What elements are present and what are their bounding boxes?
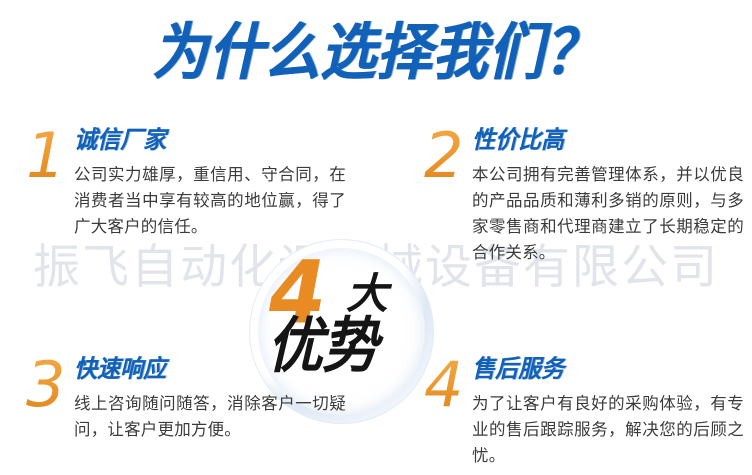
feature-number-4: 4: [424, 354, 472, 416]
feature-text-4: 为了让客户有良好的采购体验，有专业的售后跟踪服务，解决您的后顾之忧。: [472, 391, 744, 469]
feature-heading-3: 快速响应: [74, 357, 366, 383]
feature-number-2: 2: [424, 125, 472, 187]
feature-number-1: 1: [26, 125, 74, 187]
feature-block-2: 2 性价比高 本公司拥有完善管理体系，并以优良的产品品质和薄利多销的原则，与多家…: [424, 128, 746, 266]
promo-banner: 振飞自动化调机械设备有限公司 为什么选择我们？ 4 大 优势 1 诚信厂家 公司…: [0, 0, 752, 475]
feature-body-4: 售后服务 为了让客户有良好的采购体验，有专业的售后跟踪服务，解决您的后顾之忧。: [472, 357, 746, 469]
feature-heading-4: 售后服务: [472, 357, 746, 383]
feature-body-1: 诚信厂家 公司实力雄厚，重信用、守合同，在消费者当中享有较高的地位赢，得了广大客…: [74, 128, 366, 240]
feature-block-3: 3 快速响应 线上咨询随问随答，消除客户一切疑问，让客户更加方便。: [26, 357, 366, 443]
page-title: 为什么选择我们？: [0, 22, 752, 77]
feature-heading-2: 性价比高: [472, 128, 746, 154]
badge-number: 4: [269, 251, 326, 337]
feature-number-3: 3: [26, 354, 74, 416]
feature-text-2: 本公司拥有完善管理体系，并以优良的产品品质和薄利多销的原则，与多家零售商和代理商…: [472, 162, 744, 266]
feature-block-1: 1 诚信厂家 公司实力雄厚，重信用、守合同，在消费者当中享有较高的地位赢，得了广…: [26, 128, 366, 240]
page-title-text: 为什么选择我们？: [152, 22, 600, 84]
feature-text-3: 线上咨询随问随答，消除客户一切疑问，让客户更加方便。: [74, 391, 346, 443]
badge-unit: 大: [346, 273, 388, 315]
badge-top-row: 4 大: [263, 255, 423, 325]
feature-text-1: 公司实力雄厚，重信用、守合同，在消费者当中享有较高的地位赢，得了广大客户的信任。: [74, 162, 346, 240]
feature-block-4: 4 售后服务 为了让客户有良好的采购体验，有专业的售后跟踪服务，解决您的后顾之忧…: [424, 357, 746, 469]
feature-body-2: 性价比高 本公司拥有完善管理体系，并以优良的产品品质和薄利多销的原则，与多家零售…: [472, 128, 746, 266]
feature-body-3: 快速响应 线上咨询随问随答，消除客户一切疑问，让客户更加方便。: [74, 357, 366, 443]
feature-heading-1: 诚信厂家: [74, 128, 366, 154]
